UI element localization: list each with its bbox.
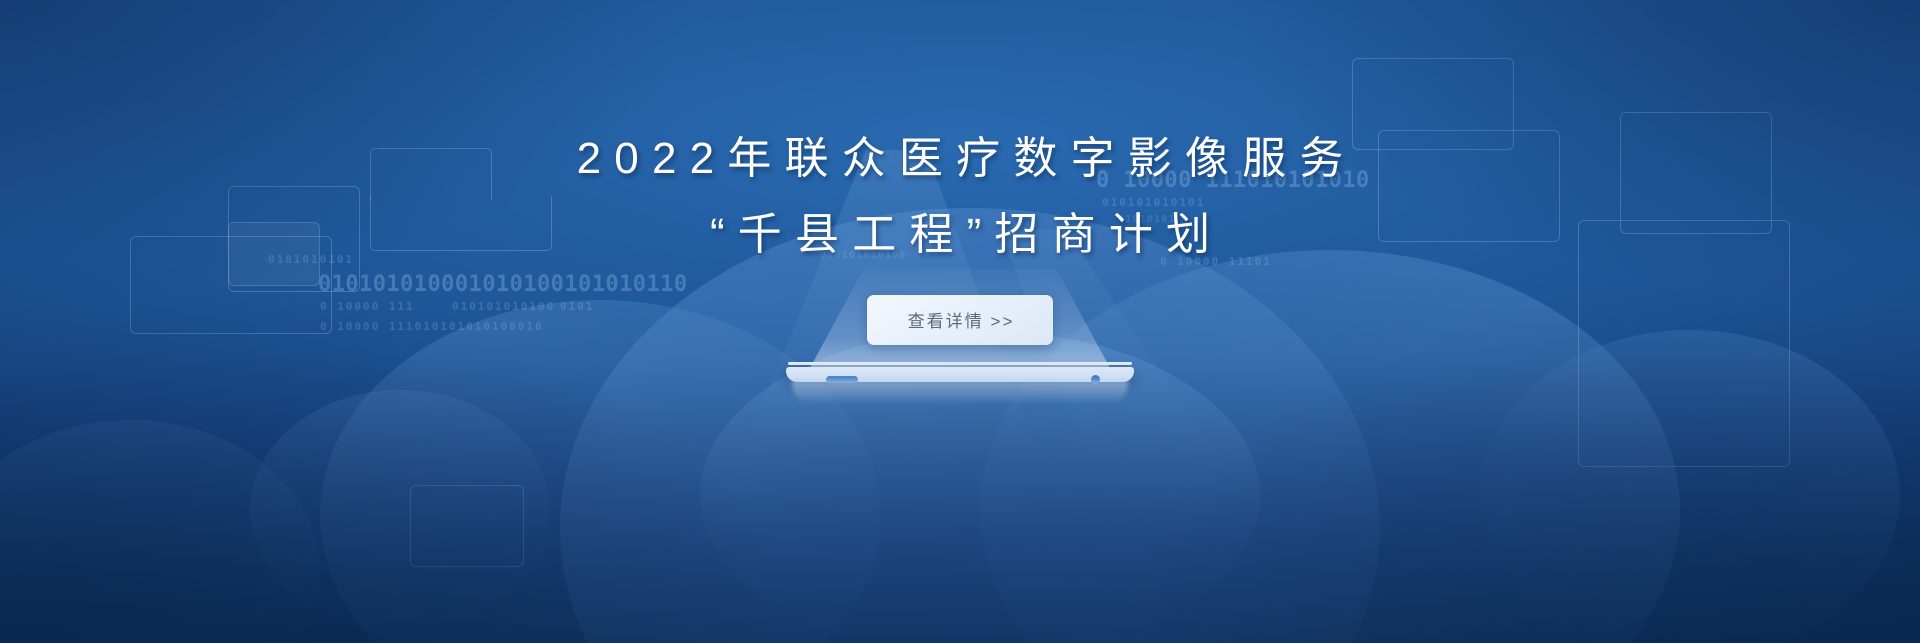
- decor-rect-bottom-left: [410, 485, 524, 567]
- laptop-lid-edge: [788, 362, 1132, 365]
- binary-text-1: 0 10000 111: [320, 300, 415, 313]
- title-line-2: “千县工程”招商计划: [0, 197, 1920, 273]
- page-title: 2022年联众医疗数字影像服务 “千县工程”招商计划: [0, 121, 1920, 273]
- laptop-base-illustration: [786, 362, 1134, 384]
- laptop-reflection: [792, 380, 1128, 404]
- binary-text-2: 010101010100: [452, 300, 555, 313]
- title-line-1: 2022年联众医疗数字影像服务: [577, 134, 1357, 183]
- view-details-button[interactable]: 查看详情 >>: [867, 295, 1053, 345]
- promo-banner: 010101010001010100101010110 0 10000 111 …: [0, 0, 1920, 643]
- binary-text-0: 010101010001010100101010110: [318, 272, 688, 297]
- binary-text-4: 0 10000 111010101010100010: [320, 320, 544, 333]
- binary-text-3: 0101: [560, 300, 594, 313]
